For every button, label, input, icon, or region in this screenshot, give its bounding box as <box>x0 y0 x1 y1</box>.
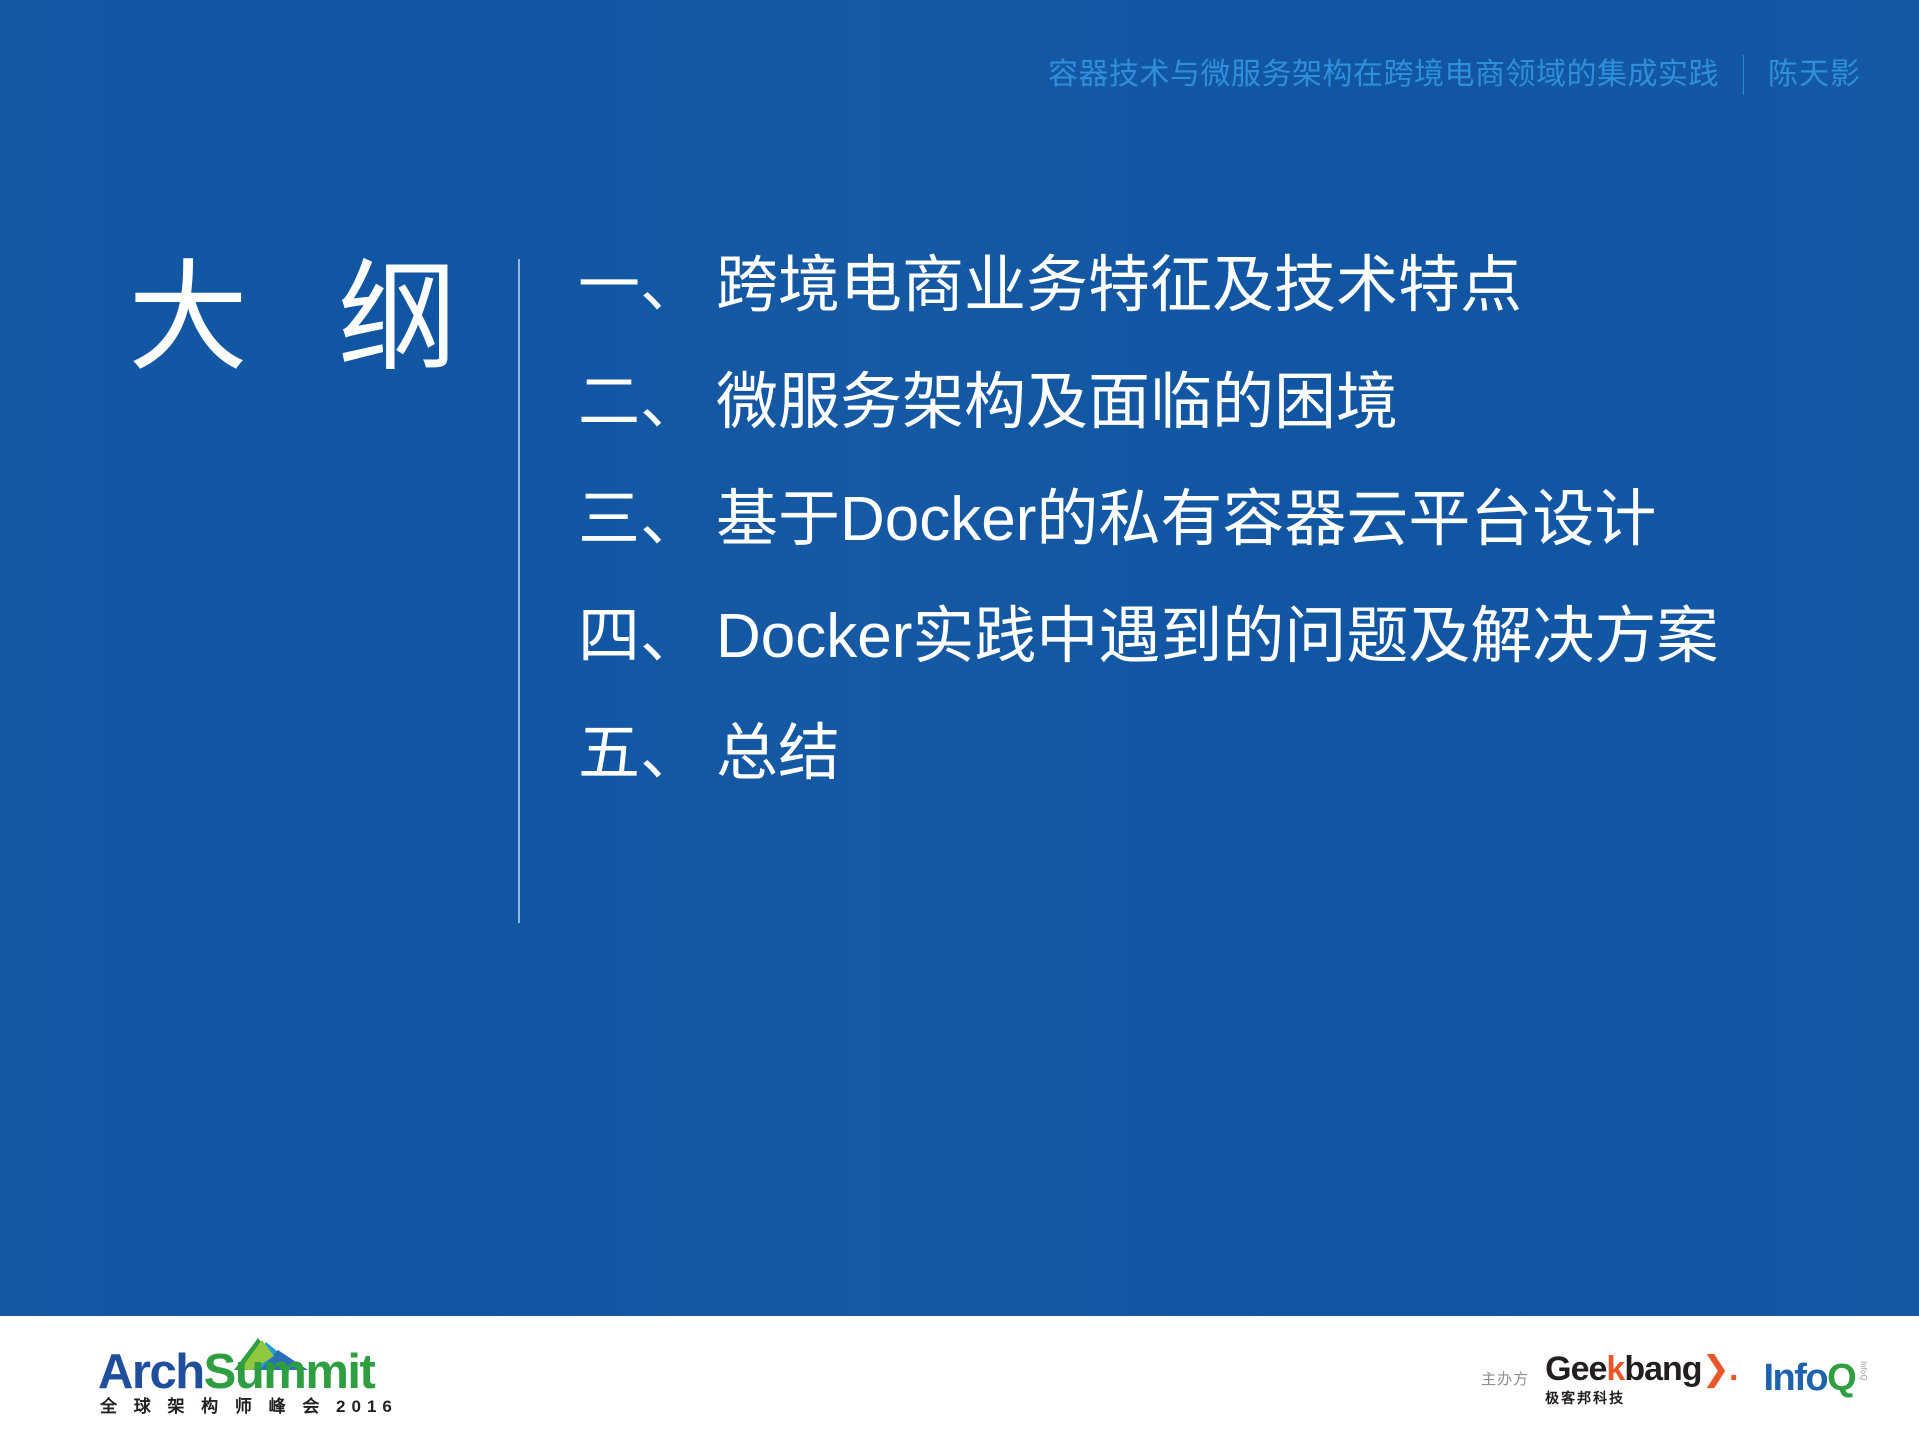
vertical-divider <box>518 259 520 923</box>
outline-item-index: 五、 <box>578 723 702 785</box>
infoq-tagline: InfoQ <box>1858 1361 1867 1381</box>
header-topic-text: 容器技术与微服务架构在跨境电商领域的集成实践 <box>1048 60 1719 90</box>
geekbang-word-dot: . <box>1729 1350 1737 1388</box>
sponsor-label: 主办方 <box>1481 1368 1529 1389</box>
outline-item-label: 基于Docker的私有容器云平台设计 <box>716 489 1656 551</box>
list-item[interactable]: 一、 跨境电商业务特征及技术特点 <box>578 255 1878 317</box>
outline-list: 一、 跨境电商业务特征及技术特点 二、 微服务架构及面临的困境 三、 基于Doc… <box>578 255 1878 785</box>
outline-item-label: Docker实践中遇到的问题及解决方案 <box>716 606 1718 668</box>
archsummit-subtitle: 全 球 架 构 师 峰 会 2016 <box>100 1398 398 1415</box>
infoq-logo: InfoQ InfoQ <box>1764 1359 1868 1397</box>
list-item[interactable]: 三、 基于Docker的私有容器云平台设计 <box>578 489 1878 551</box>
page-title: 大 纲 <box>128 255 485 381</box>
geekbang-word-k: k <box>1606 1350 1624 1388</box>
slide-header: 容器技术与微服务架构在跨境电商领域的集成实践 陈天影 <box>0 52 1919 98</box>
archsummit-word-arch: Arch <box>98 1345 204 1399</box>
sponsor-block: 主办方 Geekbang❯. 极客邦科技 InfoQ InfoQ <box>1481 1342 1867 1414</box>
outline-item-index: 二、 <box>578 372 702 434</box>
outline-item-label: 跨境电商业务特征及技术特点 <box>716 255 1522 317</box>
archsummit-wordmark: ArchSummit <box>98 1348 374 1397</box>
list-item[interactable]: 二、 微服务架构及面临的困境 <box>578 372 1878 434</box>
presentation-slide: 容器技术与微服务架构在跨境电商领域的集成实践 陈天影 大 纲 一、 跨境电商业务… <box>0 0 1919 1439</box>
list-item[interactable]: 五、 总结 <box>578 723 1878 785</box>
outline-item-label: 总结 <box>716 723 840 785</box>
infoq-wordmark: InfoQ <box>1764 1359 1856 1397</box>
infoq-word-q: Q <box>1827 1357 1855 1399</box>
geekbang-logo: Geekbang❯. 极客邦科技 <box>1545 1352 1737 1405</box>
outline-item-label: 微服务架构及面临的困境 <box>716 372 1398 434</box>
header-divider <box>1743 55 1744 95</box>
geekbang-word-gee: Gee <box>1545 1350 1606 1388</box>
archsummit-logo: ArchSummit 全 球 架 构 师 峰 会 2016 <box>98 1338 358 1422</box>
list-item[interactable]: 四、 Docker实践中遇到的问题及解决方案 <box>578 606 1878 668</box>
header-speaker-name: 陈天影 <box>1768 60 1861 90</box>
archsummit-word-summit: Summit <box>204 1345 375 1399</box>
chevron-right-icon: ❯ <box>1702 1350 1730 1388</box>
slide-footer: ArchSummit 全 球 架 构 师 峰 会 2016 主办方 Geekba… <box>0 1316 1919 1439</box>
outline-item-index: 一、 <box>578 255 702 317</box>
geekbang-subtitle: 极客邦科技 <box>1545 1391 1737 1405</box>
infoq-word-info: Info <box>1764 1357 1828 1399</box>
slide-content: 大 纲 一、 跨境电商业务特征及技术特点 二、 微服务架构及面临的困境 三、 基… <box>0 255 1919 935</box>
outline-item-index: 三、 <box>578 489 702 551</box>
geekbang-wordmark: Geekbang❯. <box>1545 1352 1737 1386</box>
geekbang-word-bang: bang <box>1624 1350 1701 1388</box>
outline-item-index: 四、 <box>578 606 702 668</box>
